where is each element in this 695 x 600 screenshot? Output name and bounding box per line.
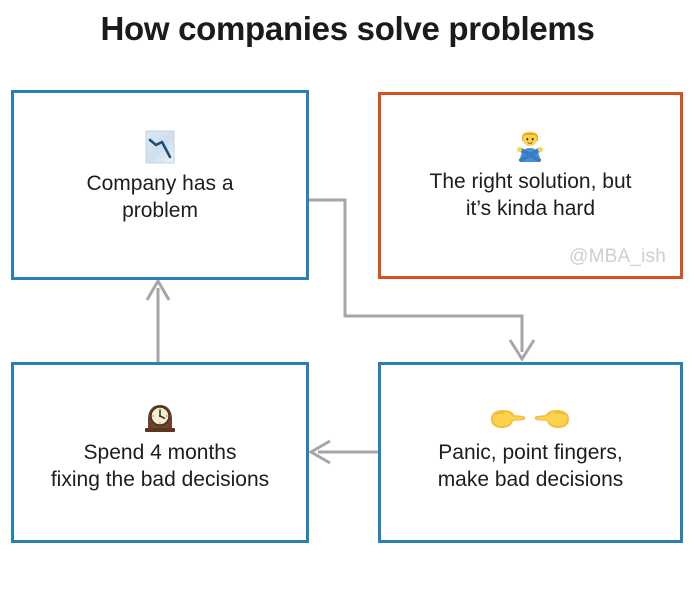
connector-spend-to-problem: [147, 281, 169, 362]
box-panic-point-fingers[interactable]: Panic, point fingers, make bad decisions: [378, 362, 683, 543]
box-the-right-solution[interactable]: The right solution, but it’s kinda hard …: [378, 92, 683, 279]
box-label: Company has a problem: [76, 170, 243, 224]
box-company-has-a-problem[interactable]: Company has a problem: [11, 90, 309, 280]
person-gesturing-no-icon: [513, 126, 547, 162]
box-label: The right solution, but it’s kinda hard: [420, 168, 642, 222]
page-title: How companies solve problems: [0, 10, 695, 48]
box-spend-4-months[interactable]: Spend 4 months fixing the bad decisions: [11, 362, 309, 543]
chart-decreasing-icon: [145, 130, 175, 164]
box-label: Spend 4 months fixing the bad decisions: [41, 439, 279, 493]
pointing-fingers-icon: [487, 405, 573, 433]
mantelpiece-clock-icon: [142, 401, 178, 433]
meme-canvas: How companies solve problems: [0, 0, 695, 600]
box-label: Panic, point fingers, make bad decisions: [428, 439, 634, 493]
connector-panic-to-spend: [311, 441, 378, 463]
watermark: @MBA_ish: [569, 246, 666, 268]
